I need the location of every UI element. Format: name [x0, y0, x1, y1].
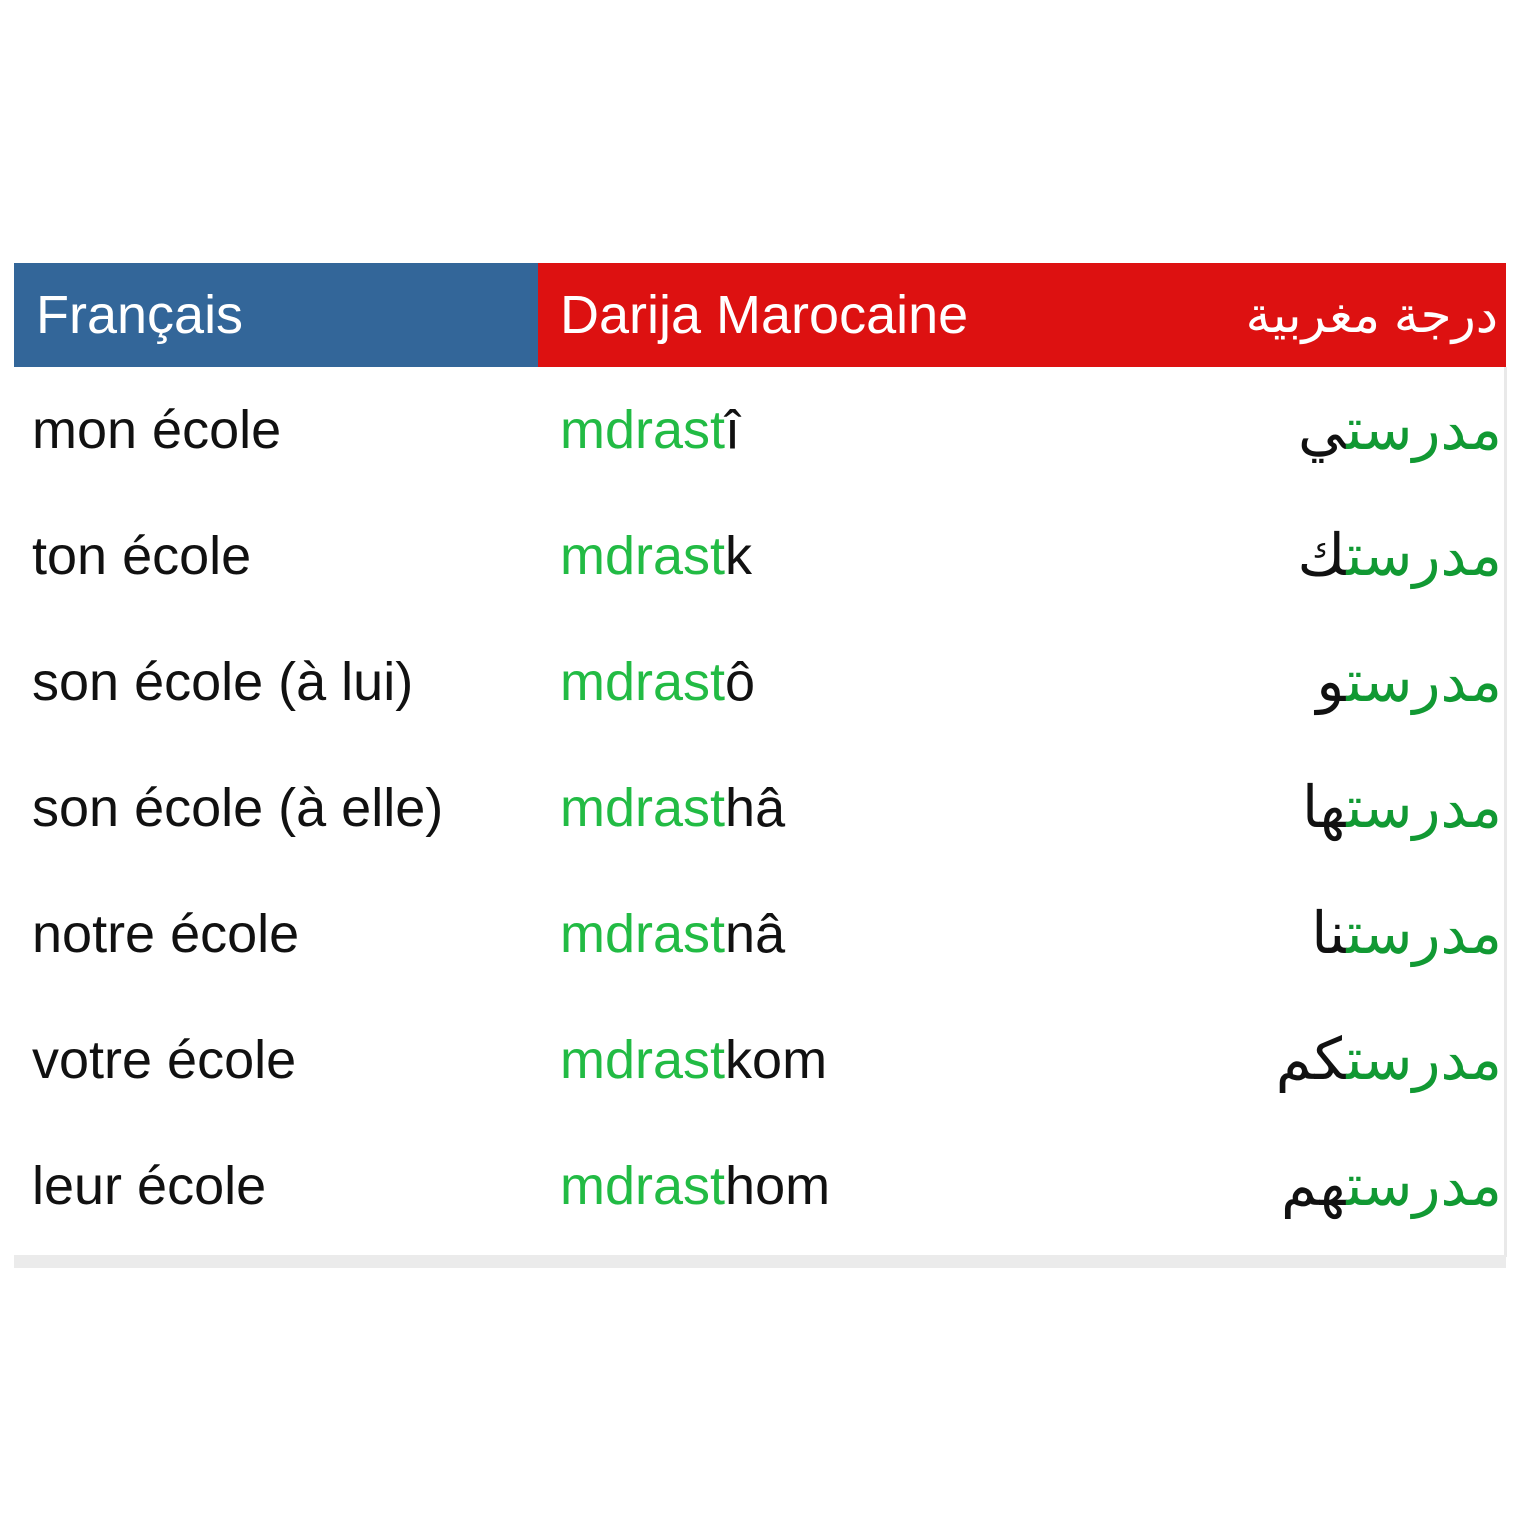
darija-stem: mdrast — [560, 1156, 725, 1216]
table-row: votre école mdrastkom مدرستكم — [14, 997, 1506, 1123]
darija-stem: mdrast — [560, 904, 725, 964]
arabic-stem: مدرست — [1346, 775, 1502, 840]
cell-arabic: مدرستي — [1150, 367, 1506, 493]
table-body: mon école mdrastî مدرستي ton école mdras… — [14, 367, 1506, 1249]
cell-francais: leur école — [14, 1123, 538, 1249]
arabic-suffix: ي — [1298, 397, 1346, 462]
cell-darija: mdrastnâ — [538, 871, 1150, 997]
table-row: leur école mdrasthom مدرستهم — [14, 1123, 1506, 1249]
table-footer-bar — [14, 1255, 1506, 1268]
darija-suffix: ô — [725, 652, 755, 712]
cell-arabic: مدرستهم — [1150, 1123, 1506, 1249]
cell-darija: mdrasthom — [538, 1123, 1150, 1249]
column-header-darija: Darija Marocaine — [538, 263, 1150, 367]
arabic-suffix: كم — [1276, 1027, 1347, 1092]
header-row: Français Darija Marocaine درجة مغربية — [14, 263, 1506, 367]
table-row: notre école mdrastnâ مدرستنا — [14, 871, 1506, 997]
table-row: ton école mdrastk مدرستك — [14, 493, 1506, 619]
cell-francais: ton école — [14, 493, 538, 619]
cell-francais: votre école — [14, 997, 538, 1123]
darija-suffix: kom — [725, 1030, 827, 1090]
table-row: mon école mdrastî مدرستي — [14, 367, 1506, 493]
cell-darija: mdrastkom — [538, 997, 1150, 1123]
arabic-suffix: ها — [1302, 775, 1346, 840]
cell-arabic: مدرستك — [1150, 493, 1506, 619]
cell-darija: mdrastk — [538, 493, 1150, 619]
cell-arabic: مدرستها — [1150, 745, 1506, 871]
page-root: Français Darija Marocaine درجة مغربية mo… — [0, 0, 1536, 1536]
cell-francais: mon école — [14, 367, 538, 493]
darija-stem: mdrast — [560, 400, 725, 460]
arabic-stem: مدرست — [1346, 1153, 1502, 1218]
darija-stem: mdrast — [560, 526, 725, 586]
arabic-stem: مدرست — [1346, 649, 1502, 714]
darija-stem: mdrast — [560, 778, 725, 838]
cell-darija: mdrastô — [538, 619, 1150, 745]
cell-arabic: مدرستنا — [1150, 871, 1506, 997]
cell-francais: son école (à lui) — [14, 619, 538, 745]
arabic-suffix: ك — [1297, 523, 1346, 588]
darija-suffix: hâ — [725, 778, 785, 838]
arabic-stem: مدرست — [1346, 901, 1502, 966]
cell-darija: mdrastî — [538, 367, 1150, 493]
darija-suffix: hom — [725, 1156, 830, 1216]
darija-stem: mdrast — [560, 652, 725, 712]
table-header: Français Darija Marocaine درجة مغربية — [14, 263, 1506, 367]
darija-suffix: î — [725, 400, 740, 460]
cell-francais: notre école — [14, 871, 538, 997]
cell-arabic: مدرستكم — [1150, 997, 1506, 1123]
arabic-stem: مدرست — [1346, 523, 1502, 588]
cell-arabic: مدرستو — [1150, 619, 1506, 745]
darija-stem: mdrast — [560, 1030, 725, 1090]
darija-suffix: k — [725, 526, 752, 586]
arabic-suffix: و — [1316, 649, 1346, 714]
cell-francais: son école (à elle) — [14, 745, 538, 871]
arabic-suffix: نا — [1311, 901, 1346, 966]
column-header-francais: Français — [14, 263, 538, 367]
column-header-arabic: درجة مغربية — [1150, 263, 1506, 367]
darija-suffix: nâ — [725, 904, 785, 964]
arabic-stem: مدرست — [1346, 1027, 1502, 1092]
table-row: son école (à elle) mdrasthâ مدرستها — [14, 745, 1506, 871]
cell-darija: mdrasthâ — [538, 745, 1150, 871]
table-row: son école (à lui) mdrastô مدرستو — [14, 619, 1506, 745]
arabic-suffix: هم — [1281, 1153, 1346, 1218]
arabic-stem: مدرست — [1346, 397, 1502, 462]
table-right-border — [1504, 367, 1507, 1257]
possessive-forms-table: Français Darija Marocaine درجة مغربية mo… — [14, 263, 1506, 1249]
